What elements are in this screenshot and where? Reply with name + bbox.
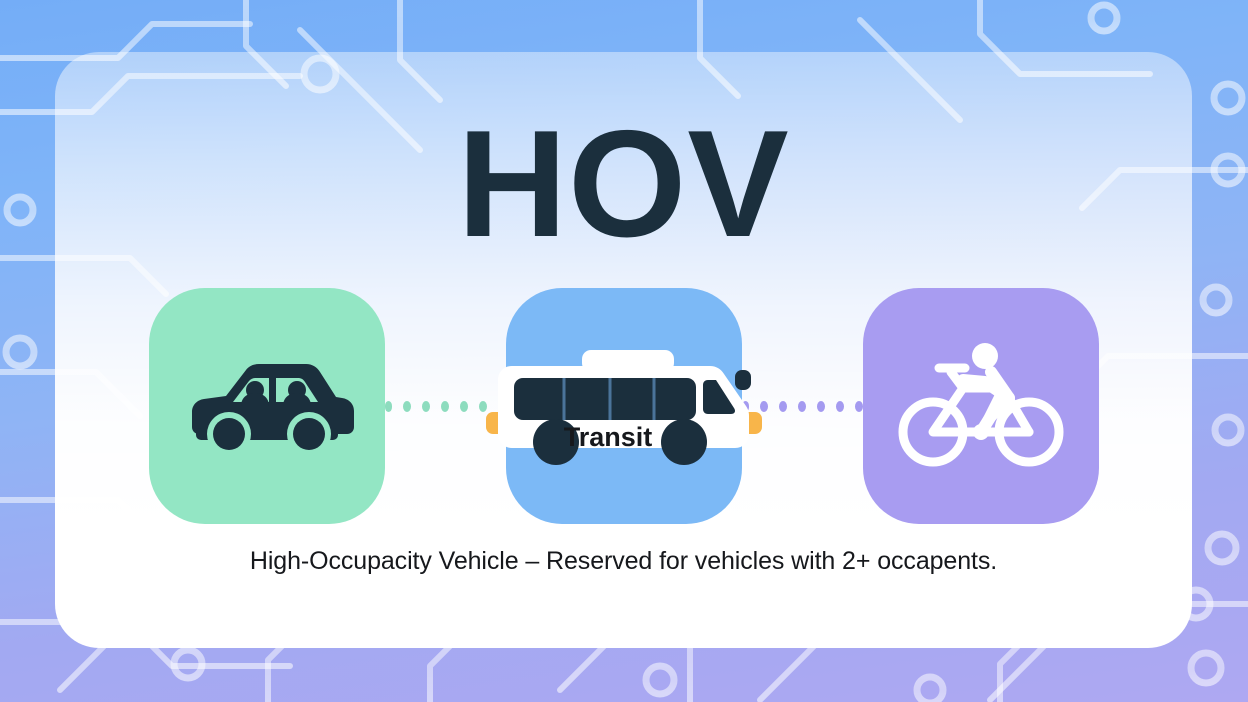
cyclist-icon: [899, 340, 1063, 472]
connector-dot: [836, 401, 844, 412]
connector-dot: [385, 401, 393, 412]
bus-label: Transit: [563, 422, 652, 452]
connector-dot: [460, 401, 468, 412]
connector-dot: [817, 401, 825, 412]
slide-stage: HOV: [0, 0, 1248, 702]
connector-dot: [403, 401, 411, 412]
connector-dot: [441, 401, 449, 412]
connector-dot: [760, 401, 768, 412]
connector-dot: [422, 401, 430, 412]
connector-dot: [779, 401, 787, 412]
connector-dot: [798, 401, 806, 412]
tile-bus[interactable]: Transit: [506, 288, 742, 524]
tile-bike[interactable]: [863, 288, 1099, 524]
content-card: HOV: [55, 52, 1192, 648]
connector-dot: [855, 401, 863, 412]
transit-bus-icon: Transit: [486, 346, 762, 466]
tile-car[interactable]: [149, 288, 385, 524]
icon-row: Transit: [55, 284, 1192, 528]
page-title: HOV: [55, 108, 1192, 260]
car-with-occupants-icon: [184, 354, 350, 458]
caption-text: High-Occupacity Vehicle – Reserved for v…: [55, 547, 1192, 576]
